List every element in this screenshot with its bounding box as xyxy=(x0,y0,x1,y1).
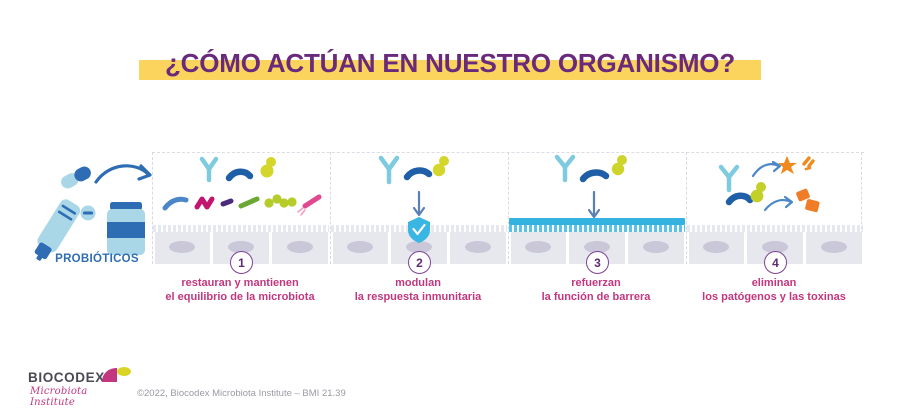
infographic-canvas: ¿CÓMO ACTÚAN EN NUESTRO ORGANISMO? xyxy=(0,0,900,420)
caption-4-line-1: eliminan xyxy=(681,276,867,290)
down-arrow-icon xyxy=(589,192,599,217)
caption-1: restauran y mantienen el equilibrio de l… xyxy=(147,276,333,304)
microvilli-3-reinforced xyxy=(509,225,685,232)
epithelial-cell xyxy=(689,232,745,264)
rod-purple-small xyxy=(223,201,231,204)
epithelial-cell xyxy=(272,232,328,264)
cocci-pair-yellow xyxy=(261,157,277,178)
jar-icon xyxy=(107,202,145,255)
antibody-y-light-blue xyxy=(202,159,216,180)
antibody-y-light-blue xyxy=(557,157,573,180)
caption-3-line-2: la función de barrera xyxy=(503,290,689,304)
epithelial-cell xyxy=(511,232,567,264)
panel-2-modulate-immunity xyxy=(330,152,506,264)
caption-2-line-2: la respuesta inmunitaria xyxy=(325,290,511,304)
rod-dark-blue xyxy=(407,171,429,177)
cell-nucleus xyxy=(525,241,551,253)
antibody-y-light-blue xyxy=(721,167,737,190)
curved-arrow-icon xyxy=(96,166,150,182)
cell-nucleus xyxy=(287,241,313,253)
cell-nucleus xyxy=(821,241,847,253)
epithelial-cell xyxy=(450,232,506,264)
caption-3: refuerzan la función de barrera xyxy=(503,276,689,304)
logo-wordmark: BIOCODEX xyxy=(28,370,105,385)
logo-tagline: Microbiota Institute xyxy=(30,386,133,408)
cocci-chain-yellow-green xyxy=(264,194,296,207)
caption-4-line-2: los patógenos y las toxinas xyxy=(681,290,867,304)
capsule-icon xyxy=(59,164,93,191)
rod-dark-blue xyxy=(229,172,250,178)
mechanism-panels xyxy=(152,152,864,264)
tablet-icon xyxy=(81,206,96,221)
zigzag-magenta xyxy=(197,199,212,207)
panel-1-restore-balance xyxy=(152,152,328,264)
curved-arrow-icon xyxy=(753,162,780,176)
biocodex-logo: BIOCODEX Microbiota Institute xyxy=(28,368,133,402)
step-badge-1: 1 xyxy=(230,251,253,274)
leaf-capsule-icon xyxy=(100,366,132,384)
cocci-pair-yellow xyxy=(433,156,449,176)
star-orange xyxy=(778,156,797,174)
cell-nucleus xyxy=(465,241,491,253)
panel-4-eliminate-pathogens xyxy=(686,152,862,264)
down-arrow-icon xyxy=(414,192,424,215)
rod-green xyxy=(241,199,257,206)
rod-pink-flagella xyxy=(298,197,319,215)
copyright-text: ©2022, Biocodex Microbiota Institute – B… xyxy=(137,388,346,399)
microvilli-1 xyxy=(153,225,329,232)
caption-2: modulan la respuesta inmunitaria xyxy=(325,276,511,304)
caption-4: eliminan los patógenos y las toxinas xyxy=(681,276,867,304)
title-container: ¿CÓMO ACTÚAN EN NUESTRO ORGANISMO? xyxy=(0,42,900,84)
rod-dark-blue xyxy=(583,173,606,179)
antibody-y-light-blue xyxy=(381,158,397,182)
caption-1-line-1: restauran y mantienen xyxy=(147,276,333,290)
cell-nucleus xyxy=(347,241,373,253)
epithelial-cell xyxy=(628,232,684,264)
page-title: ¿CÓMO ACTÚAN EN NUESTRO ORGANISMO? xyxy=(165,48,735,79)
cocci-pair-yellow xyxy=(612,155,627,175)
caption-3-line-1: refuerzan xyxy=(503,276,689,290)
caption-1-line-2: el equilibrio de la microbiota xyxy=(147,290,333,304)
blob-orange-small xyxy=(805,199,820,213)
curved-arrow-icon xyxy=(765,197,792,210)
rod-blue-curved xyxy=(165,199,186,208)
step-badge-4: 4 xyxy=(764,251,787,274)
panel-1-microbiota-graphic xyxy=(153,152,329,226)
cell-nucleus xyxy=(169,241,195,253)
microvilli-4 xyxy=(687,225,863,232)
cell-nucleus xyxy=(703,241,729,253)
shield-check-icon xyxy=(407,216,431,244)
caption-2-line-1: modulan xyxy=(325,276,511,290)
panel-3-reinforce-barrier xyxy=(508,152,684,264)
probiotics-label: PROBIÓTICOS xyxy=(38,253,156,265)
panel-3-barrier-graphic xyxy=(509,152,685,226)
step-badge-2: 2 xyxy=(408,251,431,274)
cocci-pair-yellow-green xyxy=(751,182,766,202)
barrier-bar xyxy=(509,218,685,225)
step-badge-3: 3 xyxy=(586,251,609,274)
epithelial-cell xyxy=(155,232,211,264)
epithelial-cell xyxy=(333,232,389,264)
epithelial-cell xyxy=(806,232,862,264)
panel-2-immune-graphic xyxy=(331,152,507,226)
panel-4-pathogen-graphic xyxy=(687,152,863,226)
cell-nucleus xyxy=(643,241,669,253)
rod-dark-blue xyxy=(729,196,750,202)
shard-orange xyxy=(804,158,813,169)
